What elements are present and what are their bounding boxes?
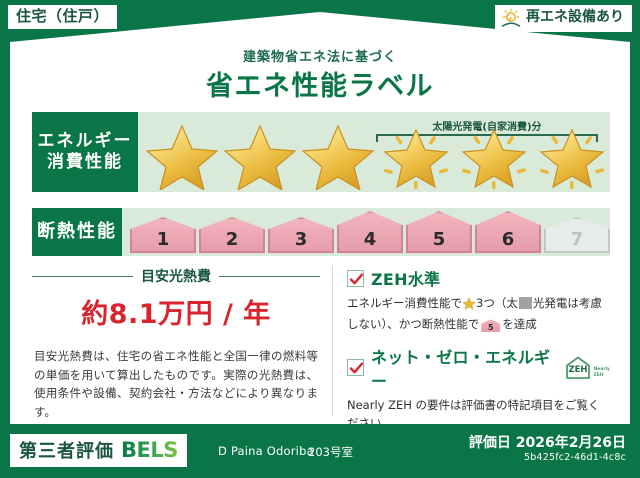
star-icon-solar	[378, 120, 454, 190]
star-icon	[300, 120, 376, 190]
insulation-performance-body: 1 2 3 4 5 6 7	[122, 208, 610, 256]
rule-left	[32, 276, 133, 277]
sun-over-horizon-icon	[500, 8, 522, 28]
zeh-badge-sub-line2: ZEH	[593, 373, 603, 378]
energy-star-rating	[138, 120, 610, 190]
insulation-level-1: 1	[130, 217, 196, 253]
house-type-tag: 住宅（住戸）	[8, 5, 117, 29]
insulation-level-value: 7	[571, 229, 584, 250]
evaluation-date: 評価日 2026年2月26日	[469, 432, 626, 452]
bels-logo: 第三者評価 BELS	[10, 434, 187, 467]
insulation-level-value: 2	[226, 229, 239, 250]
zeh-badge-icon: ZEH Nearly ZEH	[564, 356, 610, 380]
energy-performance-row: エネルギー 消費性能 太陽光発電(自家消費)分	[32, 112, 610, 192]
label-subtitle: 建築物省エネ法に基づく	[10, 46, 630, 65]
utility-cost-heading-text: 目安光熱費	[141, 266, 211, 286]
insulation-level-6: 6	[475, 211, 541, 253]
footer-bar: 第三者評価 BELS D Paina Odoriba 203号室 評価日 202…	[0, 424, 640, 478]
zeh-badge-sub: Nearly ZEH	[593, 367, 610, 379]
energy-performance-label: 建築物省エネ法に基づく 省エネ性能ラベル エネルギー 消費性能 太陽光発電(自家…	[0, 0, 640, 478]
svg-text:ZEH: ZEH	[569, 365, 588, 375]
insulation-level-5: 5	[406, 211, 472, 253]
star-icon-solar	[456, 120, 532, 190]
utility-cost-column: 目安光熱費 約8.1万円 / 年 目安光熱費は、住宅の省エネ性能と全国一律の燃料…	[32, 266, 332, 416]
evaluation-id: 5b425fc2-46d1-4c8c	[524, 452, 626, 463]
bels-en-text: BELS	[121, 438, 178, 462]
checkmark-icon	[347, 359, 364, 376]
star-icon-solar	[534, 120, 610, 190]
energy-label-line2: 消費性能	[47, 152, 123, 173]
building-name: D Paina Odoriba	[218, 444, 314, 458]
insulation-level-value: 1	[157, 229, 170, 250]
zeh-standard-title: ZEH水準	[371, 266, 440, 290]
redacted-character	[519, 297, 532, 309]
zeh-desc-part1: エネルギー消費性能で	[347, 296, 462, 310]
insulation-performance-label: 断熱性能	[32, 208, 122, 256]
evaluation-date-value: 2026年2月26日	[516, 435, 626, 451]
insulation-level-value: 4	[364, 229, 377, 250]
insulation-level-value: 6	[502, 229, 515, 250]
energy-label-line1: エネルギー	[38, 131, 133, 152]
net-zero-energy-header: ネット・ゼロ・エネルギー ZEH Nearly ZEH	[347, 344, 610, 392]
insulation-level-value: 3	[295, 229, 308, 250]
evaluation-date-label: 評価日	[469, 435, 511, 451]
insulation-level-inline-icon: 5	[481, 319, 500, 332]
zeh-desc-part3: を達成	[502, 317, 537, 331]
insulation-level-4: 4	[337, 211, 403, 253]
label-card: 建築物省エネ法に基づく 省エネ性能ラベル エネルギー 消費性能 太陽光発電(自家…	[10, 12, 630, 424]
bels-jp-text: 第三者評価	[19, 437, 114, 463]
rule-right	[219, 276, 320, 277]
zeh-column: ZEH水準 エネルギー消費性能で3つ（太光発電は考慮しない）、かつ断熱性能で5を…	[332, 266, 610, 416]
zeh-standard-description: エネルギー消費性能で3つ（太光発電は考慮しない）、かつ断熱性能で5を達成	[347, 294, 610, 334]
star-icon	[144, 120, 220, 190]
checkmark-icon	[347, 270, 364, 287]
utility-cost-heading: 目安光熱費	[32, 266, 320, 286]
utility-cost-value: 約8.1万円 / 年	[32, 292, 320, 331]
utility-cost-note: 目安光熱費は、住宅の省エネ性能と全国一律の燃料等の単価を用いて算出したものです。…	[32, 347, 320, 422]
lower-section: 目安光熱費 約8.1万円 / 年 目安光熱費は、住宅の省エネ性能と全国一律の燃料…	[32, 266, 610, 416]
insulation-level-scale: 1 2 3 4 5 6 7	[122, 211, 610, 253]
energy-performance-body: 太陽光発電(自家消費)分	[138, 112, 610, 192]
net-zero-energy-item: ネット・ゼロ・エネルギー ZEH Nearly ZEH	[347, 344, 610, 433]
star-icon-inline	[462, 296, 476, 315]
room-number: 203号室	[308, 444, 353, 460]
insulation-level-value: 5	[433, 229, 446, 250]
zeh-desc-star-text: 3つ（太	[476, 296, 518, 310]
zeh-standard-header: ZEH水準	[347, 266, 610, 290]
insulation-performance-row: 断熱性能 1 2 3 4 5 6 7	[32, 208, 610, 256]
label-title: 省エネ性能ラベル	[10, 64, 630, 103]
renewable-tag-label: 再エネ設備あり	[526, 10, 624, 25]
star-icon	[222, 120, 298, 190]
energy-performance-label: エネルギー 消費性能	[32, 112, 138, 192]
renewable-equipment-tag: 再エネ設備あり	[495, 5, 632, 32]
zeh-standard-item: ZEH水準 エネルギー消費性能で3つ（太光発電は考慮しない）、かつ断熱性能で5を…	[347, 266, 610, 334]
insulation-level-2: 2	[199, 217, 265, 253]
insulation-level-3: 3	[268, 217, 334, 253]
net-zero-energy-title: ネット・ゼロ・エネルギー	[371, 344, 554, 392]
insulation-level-7: 7	[544, 217, 610, 253]
insulation-label-text: 断熱性能	[37, 221, 117, 244]
